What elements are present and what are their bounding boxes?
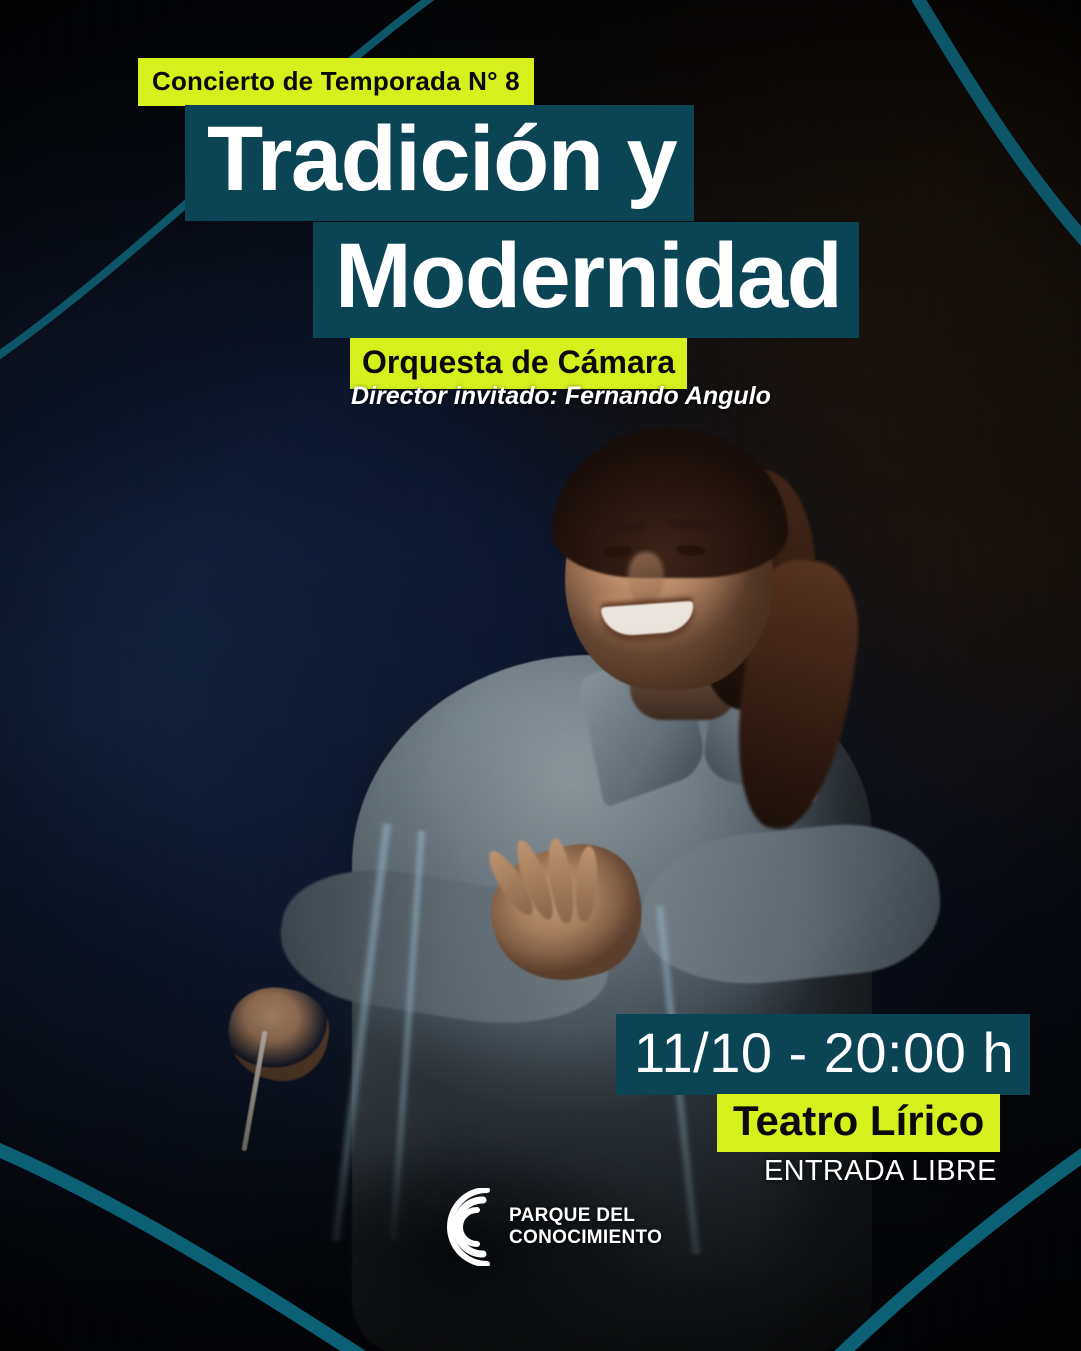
logo-wordmark: PARQUE DEL CONOCIMIENTO — [509, 1205, 662, 1249]
guest-director-label: Director invitado: Fernando Angulo — [351, 382, 771, 411]
logo-line-1: PARQUE DEL — [509, 1205, 662, 1227]
organization-logo: PARQUE DEL CONOCIMIENTO — [425, 1188, 662, 1266]
poster-title-line-2: Modernidad — [313, 222, 859, 338]
venue-label: Teatro Lírico — [717, 1094, 1000, 1152]
season-concert-label: Concierto de Temporada N° 8 — [138, 58, 534, 106]
concentric-arcs-icon — [425, 1188, 497, 1266]
poster-title-line-1: Tradición y — [185, 105, 694, 221]
logo-line-2: CONOCIMIENTO — [509, 1227, 662, 1249]
concert-poster: Concierto de Temporada N° 8 Tradición y … — [0, 0, 1081, 1351]
admission-label: ENTRADA LIBRE — [764, 1155, 997, 1188]
date-time-label: 11/10 - 20:00 h — [616, 1014, 1030, 1095]
